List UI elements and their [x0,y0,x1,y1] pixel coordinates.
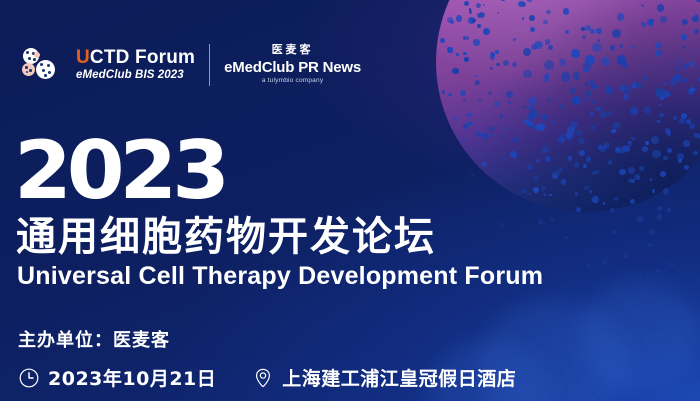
uctd-forum-logo: UCTD Forum eMedClub BIS 2023 [76,48,195,82]
scatter-dot [547,98,551,102]
scatter-dot [657,206,662,211]
scatter-dot [657,214,663,220]
scatter-dot [636,176,640,180]
scatter-dot [608,160,612,164]
scatter-dot [592,100,596,104]
sphere-dot [483,29,488,34]
scatter-dot [651,136,659,144]
sphere-dot [601,57,609,65]
scatter-dot [522,105,526,109]
sphere-dot [677,153,684,160]
scatter-dot [563,284,567,288]
sphere-dot [559,59,565,65]
sphere-dot [483,4,485,6]
sphere-dot [523,48,531,56]
clock-icon [18,367,40,389]
sphere-dot [694,133,698,137]
scatter-dot [624,254,628,258]
sphere-dot [447,47,452,52]
scatter-dot [591,125,596,130]
sphere-dot [477,24,481,28]
sphere-dot [670,78,678,86]
sphere-dot [617,13,624,20]
logo-divider [209,44,210,86]
scatter-dot [635,82,642,89]
scatter-dot [613,122,620,129]
sphere-dot [573,72,581,80]
sphere-dot [546,10,550,14]
uctd-title-rest: CTD Forum [90,47,195,68]
scatter-dot [649,229,654,234]
sphere-dot [529,15,535,21]
event-poster: UCTD Forum eMedClub BIS 2023 医麦客 eMedClu… [0,0,700,401]
sphere-dot [689,123,694,128]
sphere-dot [592,43,602,53]
sphere-dot [590,29,594,33]
scatter-dot [600,111,607,118]
scatter-dot [595,170,599,174]
sphere-dot [571,49,580,58]
uctd-accent-letter: U [76,47,90,68]
sphere-dot [503,60,509,66]
sphere-dot [681,34,687,40]
scatter-dot [488,91,492,95]
scatter-dot [550,217,554,221]
sphere-dot [534,41,543,50]
sphere-dot [464,57,469,62]
event-chinese-title: 通用细胞药物开发论坛 [16,215,436,259]
scatter-dot [639,166,644,171]
scatter-dot [655,88,664,97]
sphere-dot [545,39,551,45]
sphere-dot [690,87,695,92]
sphere-dot [682,19,688,25]
sphere-dot [584,68,588,72]
cell-cluster-icon [22,48,62,82]
scatter-dot [610,208,615,213]
uctd-forum-subtitle: eMedClub BIS 2023 [76,70,195,82]
scatter-dot [656,269,661,274]
sphere-dot [689,61,694,66]
sphere-dot [612,29,621,38]
scatter-dot [574,162,580,168]
scatter-dot [639,275,643,279]
scatter-dot [578,138,585,145]
sphere-dot [660,16,667,23]
scatter-dot [558,168,563,173]
event-venue: 上海建工浦江皇冠假日酒店 [252,364,516,391]
sphere-dot [463,99,466,102]
event-venue-text: 上海建工浦江皇冠假日酒店 [282,364,516,391]
scatter-dot [585,90,592,97]
sphere-dot [585,55,595,65]
sphere-dot [677,58,680,61]
sphere-dot [450,20,454,24]
scatter-dot [591,198,595,202]
scatter-dot [604,142,610,148]
sphere-dot [596,28,601,33]
sphere-dot [696,0,700,2]
sphere-dot [440,38,445,43]
scatter-dot [670,262,675,267]
scatter-dot [564,236,568,240]
sphere-dot [694,29,698,33]
sphere-dot [632,46,635,49]
sphere-dot [673,116,677,120]
scatter-dot [669,282,673,286]
emedclub-tagline: a tulymbio company [262,78,323,85]
scatter-dot [533,176,539,182]
scatter-dot [608,111,612,115]
sphere-dot [610,45,615,50]
scatter-dot [628,178,633,183]
sphere-dot [513,38,516,41]
scatter-dot [648,243,652,247]
event-date-text: 2023年10月21日 [48,364,216,391]
sphere-dot [683,78,688,83]
logo-bar: UCTD Forum eMedClub BIS 2023 医麦客 eMedClu… [22,44,361,86]
scatter-dot [560,133,564,137]
scatter-dot [667,208,671,212]
emedclub-pr-news-logo: 医麦客 eMedClub PR News a tulymbio company [224,45,361,85]
scatter-dot [552,121,556,125]
sphere-dot [466,36,469,39]
sphere-dot [523,70,531,78]
scatter-dot [620,149,625,154]
sphere-dot [463,52,467,56]
scatter-dot [487,126,491,130]
scatter-dot [637,216,643,222]
scatter-dot [500,135,504,139]
emedclub-english-mark: eMedClub PR News [224,60,361,75]
scatter-dot [663,156,668,161]
scatter-dot [542,116,548,122]
scatter-dot [587,263,591,267]
emedclub-chinese-mark: 医麦客 [272,45,314,56]
scatter-dot [538,220,543,225]
sphere-dot [676,66,681,71]
sphere-dot [471,18,476,23]
sphere-dot [518,1,525,8]
scatter-dot [601,149,605,153]
scatter-dot [541,148,545,152]
host-organization: 主办单位：医麦客 [18,326,170,352]
scatter-dot [478,99,482,103]
sphere-dot [683,140,689,146]
event-date: 2023年10月21日 [18,364,216,391]
sphere-dot [617,55,626,64]
scatter-dot [614,197,618,201]
sphere-dot [462,139,464,141]
scatter-dot [559,104,563,108]
scatter-dot [584,186,588,190]
scatter-dot [501,223,505,227]
scatter-dot [647,273,651,277]
scatter-dot [529,107,535,113]
sphere-dot [693,151,698,156]
scatter-dot [659,113,664,118]
sphere-dot [657,4,664,11]
scatter-dot [471,173,475,177]
event-year: 2023 [14,131,225,211]
sphere-dot [455,69,458,72]
scatter-dot [501,157,505,161]
scatter-dot [602,259,607,264]
scatter-dot [663,188,669,194]
event-meta-row: 2023年10月21日 上海建工浦江皇冠假日酒店 [18,364,516,391]
sphere-dot [582,35,586,39]
event-english-title: Universal Cell Therapy Development Forum [17,262,543,290]
scatter-dot [541,186,546,191]
scatter-dot [613,230,617,234]
scatter-dot [570,88,576,94]
sphere-dot [473,39,479,45]
scatter-dot [585,82,589,86]
scatter-dot [652,150,660,158]
scatter-dot [527,124,531,128]
location-pin-icon [252,367,274,389]
uctd-forum-title: UCTD Forum [76,48,195,67]
scatter-dot [576,130,582,136]
